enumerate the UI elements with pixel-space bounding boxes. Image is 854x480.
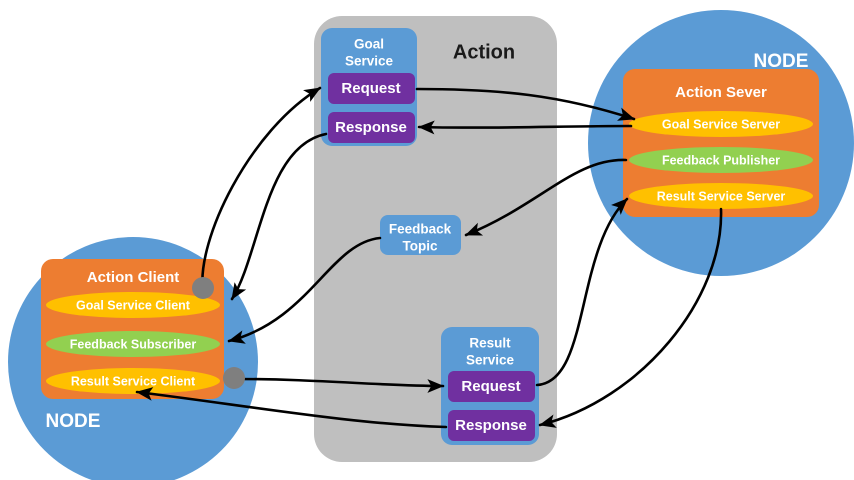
feedback-publisher-label: Feedback Publisher [662, 153, 780, 167]
edge-goal-server-to-goal-response [419, 126, 631, 128]
goal-service-client-connector-dot [192, 277, 214, 299]
result-service-request-label: Request [461, 378, 520, 395]
client-node[interactable]: NODE Action Client Goal Service Client F… [8, 237, 258, 480]
feedback-topic-box[interactable]: Feedback Topic [380, 215, 461, 255]
action-title: Action [453, 41, 515, 63]
goal-service-box[interactable]: Goal Service Request Response [321, 28, 417, 146]
goal-service-title-line2: Service [345, 54, 394, 69]
result-service-client-label: Result Service Client [71, 374, 196, 388]
result-service-server-label: Result Service Server [657, 189, 786, 203]
goal-service-response-label: Response [335, 119, 407, 136]
goal-service-request-label: Request [341, 80, 400, 97]
result-service-response-label: Response [455, 417, 527, 434]
edge-goal-client-to-goal-request [202, 88, 320, 291]
action-client-title: Action Client [87, 269, 180, 286]
goal-service-client-label: Goal Service Client [76, 298, 191, 312]
server-node-label: NODE [754, 51, 809, 72]
diagram-canvas: Action NODE Action Sever Goal Service Se… [0, 0, 854, 480]
feedback-topic-line1: Feedback [389, 222, 452, 237]
goal-service-title-line1: Goal [354, 37, 384, 52]
result-service-box[interactable]: Result Service Request Response [441, 327, 539, 445]
action-architecture-diagram: Action NODE Action Sever Goal Service Se… [0, 0, 854, 480]
client-node-label: NODE [46, 411, 101, 432]
action-server-title: Action Sever [675, 84, 767, 101]
result-service-title-line2: Service [466, 353, 515, 368]
feedback-subscriber-label: Feedback Subscriber [70, 337, 197, 351]
result-service-title-line1: Result [469, 336, 511, 351]
result-service-client-connector-dot [223, 367, 245, 389]
goal-service-server-label: Goal Service Server [662, 117, 780, 131]
feedback-topic-line2: Topic [403, 239, 438, 254]
edge-goal-response-to-goal-client [232, 134, 326, 299]
server-node[interactable]: NODE Action Sever Goal Service Server Fe… [588, 10, 854, 276]
